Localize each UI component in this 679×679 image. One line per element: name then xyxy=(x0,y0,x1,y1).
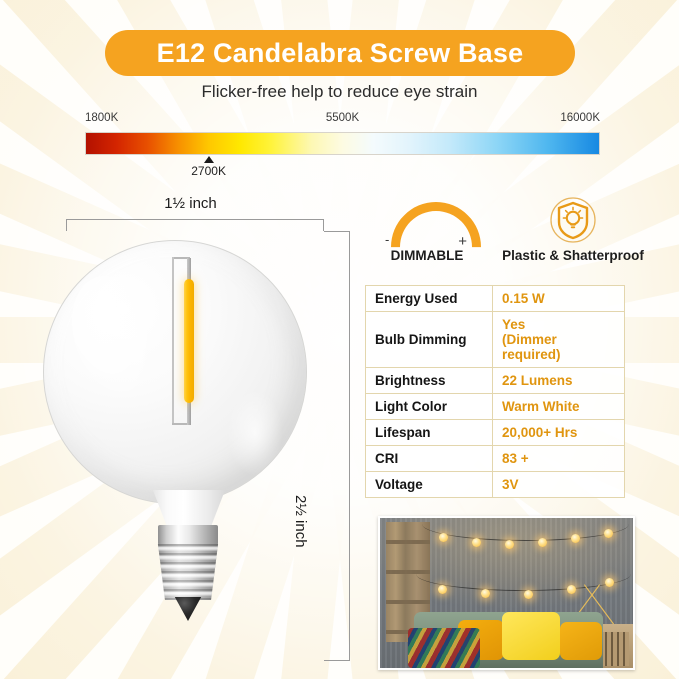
infographic-page: E12 Candelabra Screw Base Flicker-free h… xyxy=(0,0,679,679)
spec-key: Voltage xyxy=(366,472,493,498)
spec-value: Yes(Dimmer required) xyxy=(493,312,625,368)
e12-screw-base xyxy=(156,525,220,617)
string-light-bulb xyxy=(571,534,580,543)
bulb-height-label: 2½ inch xyxy=(292,495,309,548)
spec-value: 83 + xyxy=(493,446,625,472)
spec-key: Brightness xyxy=(366,368,493,394)
kelvin-marker-label: 2700K xyxy=(191,164,226,178)
table-row: Bulb DimmingYes(Dimmer required) xyxy=(366,312,625,368)
spec-value-secondary: (Dimmer required) xyxy=(502,332,615,362)
feature-dimmable: - + DIMMABLE xyxy=(367,196,487,263)
led-filament xyxy=(184,279,194,403)
bulb-illustration: 1½ inch 2½ inch xyxy=(18,195,358,670)
kelvin-marker-arrow-icon xyxy=(204,156,214,163)
table-row: Energy Used0.15 W xyxy=(366,286,625,312)
glass-highlight xyxy=(59,267,167,402)
dimension-tick-bottom xyxy=(324,660,350,661)
string-light-bulb xyxy=(538,538,547,547)
feature-shatterproof: Plastic & Shatterproof xyxy=(491,196,655,263)
string-light-bulb xyxy=(472,538,481,547)
ladder-rung xyxy=(386,600,430,604)
height-dimension-line xyxy=(324,231,350,661)
feature-shatterproof-label: Plastic & Shatterproof xyxy=(491,248,655,263)
plus-sign-label: + xyxy=(458,234,467,249)
table-row: Brightness22 Lumens xyxy=(366,368,625,394)
spec-key: Lifespan xyxy=(366,420,493,446)
feature-icons: - + DIMMABLE xyxy=(365,196,655,276)
spec-key: Light Color xyxy=(366,394,493,420)
spec-key: Bulb Dimming xyxy=(366,312,493,368)
glass-highlight-secondary xyxy=(228,391,282,475)
dimension-line xyxy=(66,219,324,220)
table-row: Voltage3V xyxy=(366,472,625,498)
dimension-tick-left xyxy=(66,219,67,231)
photo-plaid-blanket xyxy=(408,628,480,668)
table-row: Light ColorWarm White xyxy=(366,394,625,420)
kelvin-gradient-bar xyxy=(85,132,600,155)
spec-value: 0.15 W xyxy=(493,286,625,312)
page-title: E12 Candelabra Screw Base xyxy=(105,30,575,76)
base-contact-tip xyxy=(173,597,203,621)
kelvin-max-label: 16000K xyxy=(560,112,600,124)
photo-string-lights-upper xyxy=(422,524,629,526)
lifestyle-photo xyxy=(378,516,635,670)
specification-table: Energy Used0.15 WBulb DimmingYes(Dimmer … xyxy=(365,285,625,498)
string-light-bulb xyxy=(524,590,533,599)
photo-pillow xyxy=(560,622,602,660)
dimension-tick-top xyxy=(324,231,350,232)
kelvin-marker: 2700K xyxy=(85,155,600,185)
dimension-line xyxy=(349,231,350,661)
string-light-bulb xyxy=(505,540,514,549)
string-light-bulb xyxy=(438,585,447,594)
photo-pillow xyxy=(502,612,560,660)
dimmer-arc-icon: - + xyxy=(367,196,487,248)
filament-post-top xyxy=(187,258,191,280)
spec-value: Warm White xyxy=(493,394,625,420)
width-dimension-line xyxy=(66,219,324,231)
spec-key: Energy Used xyxy=(366,286,493,312)
table-row: Lifespan20,000+ Hrs xyxy=(366,420,625,446)
kelvin-labels: 1800K 5500K 16000K xyxy=(85,112,600,129)
page-subtitle: Flicker-free help to reduce eye strain xyxy=(0,82,679,102)
filament-stem xyxy=(172,257,174,425)
ladder-rung xyxy=(386,540,430,544)
shield-bulb-icon xyxy=(491,196,655,248)
base-threads xyxy=(156,544,220,600)
kelvin-mid-label: 5500K xyxy=(326,112,359,124)
spec-value: 3V xyxy=(493,472,625,498)
filament-post-bottom xyxy=(187,401,191,425)
string-light-bulb xyxy=(439,533,448,542)
bulb-glass-globe xyxy=(43,240,307,504)
color-temperature-scale: 1800K 5500K 16000K 2700K xyxy=(85,112,600,185)
spec-value: 20,000+ Hrs xyxy=(493,420,625,446)
bulb-width-label: 1½ inch xyxy=(58,195,323,212)
dimension-tick-right xyxy=(323,219,324,231)
base-collar xyxy=(158,525,218,545)
table-row: CRI83 + xyxy=(366,446,625,472)
bulb-neck xyxy=(146,490,232,530)
kelvin-min-label: 1800K xyxy=(85,112,118,124)
spec-key: CRI xyxy=(366,446,493,472)
spec-value: 22 Lumens xyxy=(493,368,625,394)
minus-sign-label: - xyxy=(385,233,389,246)
string-light-bulb xyxy=(481,589,490,598)
